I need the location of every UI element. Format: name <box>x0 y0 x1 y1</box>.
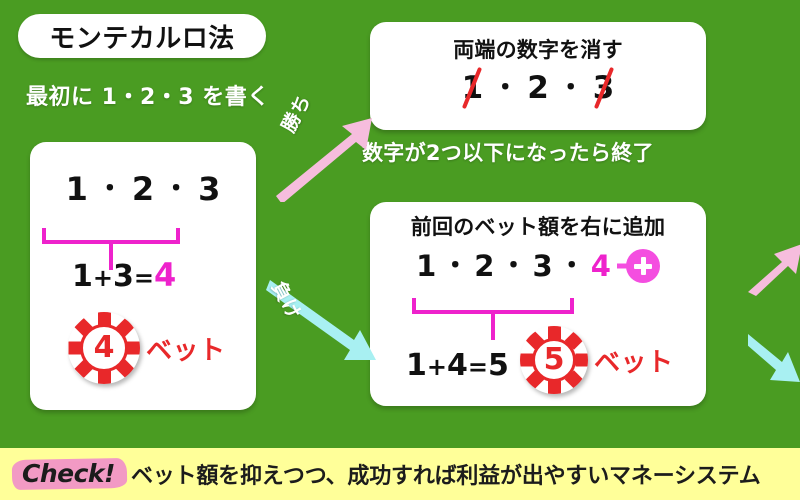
seq-separator: ・ <box>97 176 123 202</box>
plus-circle-icon <box>626 249 660 283</box>
chip-value: 4 <box>94 333 115 363</box>
seq-separator: ・ <box>559 253 585 279</box>
sum-operand-b: 4 <box>447 348 468 383</box>
lose-sum: 1 + 4 = 5 <box>406 348 509 383</box>
end-condition-text: 数字が2つ以下になったら終了 <box>362 137 654 167</box>
seq-separator: ・ <box>500 253 526 279</box>
chip-inner-ring: 5 <box>532 338 576 382</box>
seq-number: 2 <box>527 70 549 106</box>
bet-label: ベット <box>594 342 674 379</box>
seq-number: 3 <box>198 170 220 208</box>
poker-chip-icon: 4 <box>68 312 140 384</box>
start-sequence: 1 ・ 2 ・ 3 <box>30 170 256 208</box>
infographic-canvas: モンテカルロ法 最初に 1・2・3 を書く 数字が2つ以下になったら終了 1 ・… <box>0 0 800 500</box>
check-badge: Check! <box>14 458 123 491</box>
seq-number: 2 <box>132 170 154 208</box>
start-sum: 1 + 3 = 4 <box>72 256 176 294</box>
chip-inner-ring: 4 <box>80 324 128 372</box>
win-exit-arrow-icon <box>748 238 800 298</box>
lose-sequence: 1 ・ 2 ・ 3 ・ 4 <box>370 249 706 283</box>
chip-value: 5 <box>544 345 565 375</box>
win-card-heading: 両端の数字を消す <box>370 34 706 64</box>
sum-operator-equals: = <box>468 353 488 381</box>
sum-operator-plus: + <box>427 353 447 381</box>
sum-operand-b: 3 <box>113 259 134 294</box>
bracket-right-leg <box>570 298 574 314</box>
seq-number-struck: 1 <box>462 70 484 106</box>
footer-bar: Check! ベット額を抑えつつ、成功すれば利益が出やすいマネーシステム <box>0 448 800 500</box>
seq-separator: ・ <box>163 176 189 202</box>
sum-operand-a: 1 <box>406 348 427 383</box>
seq-number: 1 <box>66 170 88 208</box>
lose-bet-row: 5 ベット <box>520 326 674 394</box>
sum-result: 5 <box>488 348 509 383</box>
seq-number-struck: 3 <box>593 70 615 106</box>
seq-number: 2 <box>474 249 494 283</box>
win-sequence: 1 ・ 2 ・ 3 <box>370 70 706 106</box>
bracket-right-leg <box>176 228 180 244</box>
lose-exit-arrow-icon <box>748 330 800 390</box>
lose-card-heading: 前回のベット額を右に追加 <box>370 211 706 241</box>
sum-result: 4 <box>154 256 176 294</box>
sum-operator-equals: = <box>134 264 154 292</box>
footer-text: ベット額を抑えつつ、成功すれば利益が出やすいマネーシステム <box>131 458 761 490</box>
subtitle-text: 最初に 1・2・3 を書く <box>26 79 270 111</box>
sum-operand-a: 1 <box>72 259 93 294</box>
page-title-pill: モンテカルロ法 <box>18 14 266 58</box>
bet-label: ベット <box>146 330 226 367</box>
seq-separator: ・ <box>558 75 584 101</box>
poker-chip-icon: 5 <box>520 326 588 394</box>
start-bet-row: 4 ベット <box>68 312 226 384</box>
page-title: モンテカルロ法 <box>49 18 235 55</box>
seq-number: 1 <box>416 249 436 283</box>
seq-separator: ・ <box>442 253 468 279</box>
sum-operator-plus: + <box>93 264 113 292</box>
seq-number-added: 4 <box>591 249 611 283</box>
bracket-stem <box>491 310 495 340</box>
seq-number: 3 <box>533 249 553 283</box>
seq-separator: ・ <box>492 75 518 101</box>
win-card: 両端の数字を消す 1 ・ 2 ・ 3 <box>370 22 706 130</box>
